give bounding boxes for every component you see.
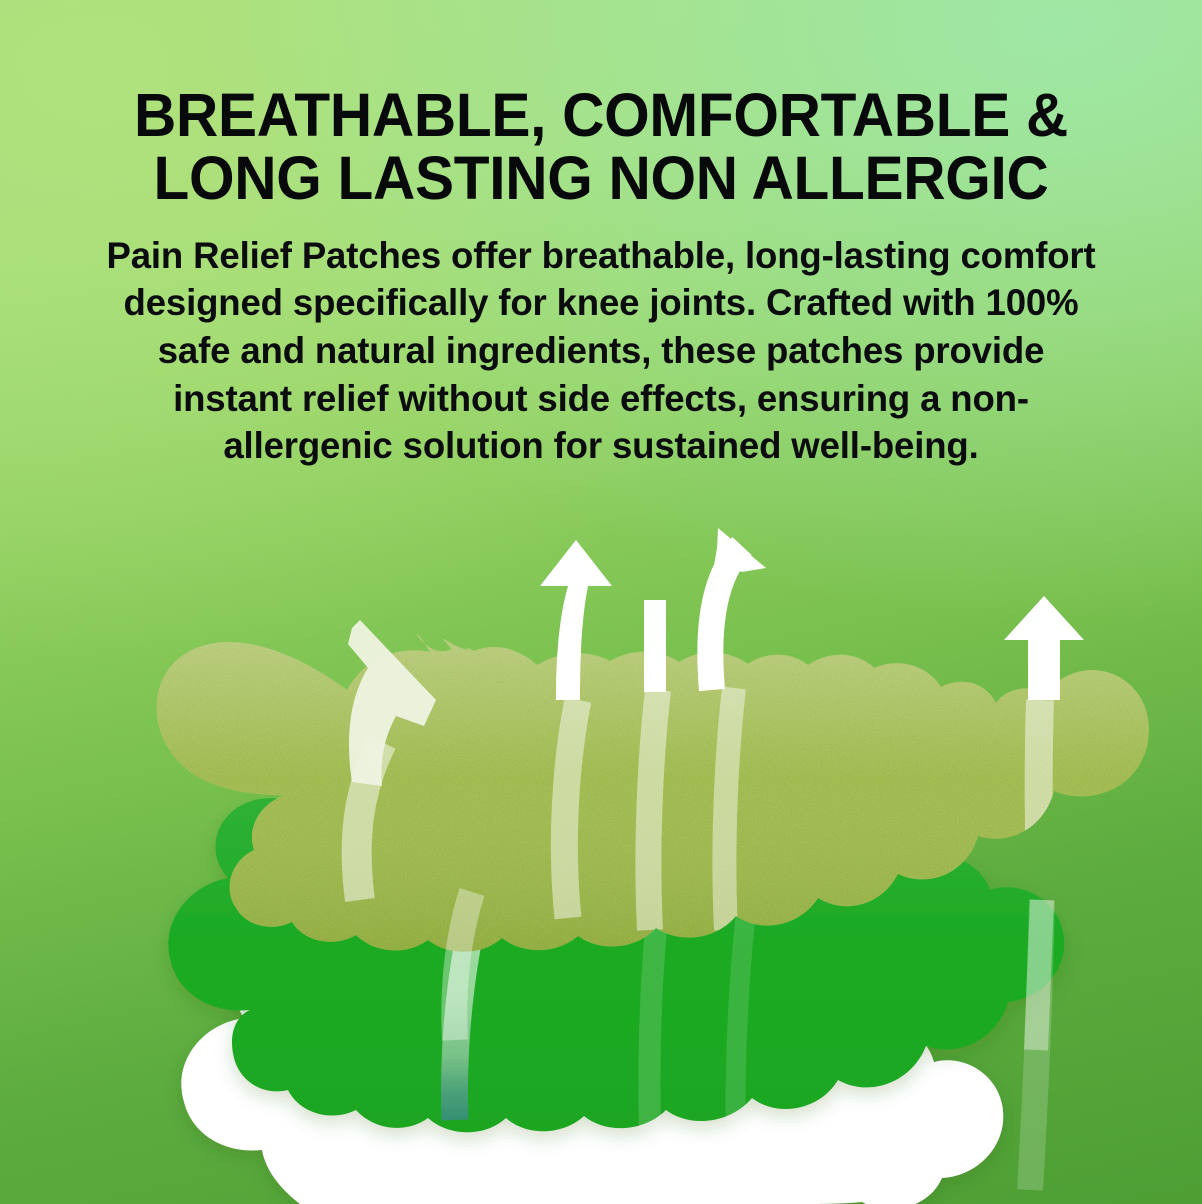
airflow-arrow-3 (644, 600, 666, 692)
headline-line-1: BREATHABLE, COMFORTABLE & (92, 84, 1110, 147)
page-title: BREATHABLE, COMFORTABLE & LONG LASTING N… (92, 84, 1110, 210)
headline-line-2: LONG LASTING NON ALLERGIC (92, 147, 1110, 210)
description-line-5: allergenic solution for sustained well-b… (94, 422, 1108, 470)
description-line-2: designed specifically for knee joints. C… (94, 279, 1108, 327)
description-line-4: instant relief without side effects, ens… (94, 375, 1108, 423)
description-line-1: Pain Relief Patches offer breathable, lo… (94, 232, 1108, 280)
description-line-3: safe and natural ingredients, these patc… (94, 327, 1108, 375)
description-paragraph: Pain Relief Patches offer breathable, lo… (94, 232, 1108, 470)
poster-copy: BREATHABLE, COMFORTABLE & LONG LASTING N… (0, 0, 1202, 470)
product-feature-poster: BREATHABLE, COMFORTABLE & LONG LASTING N… (0, 0, 1202, 1204)
